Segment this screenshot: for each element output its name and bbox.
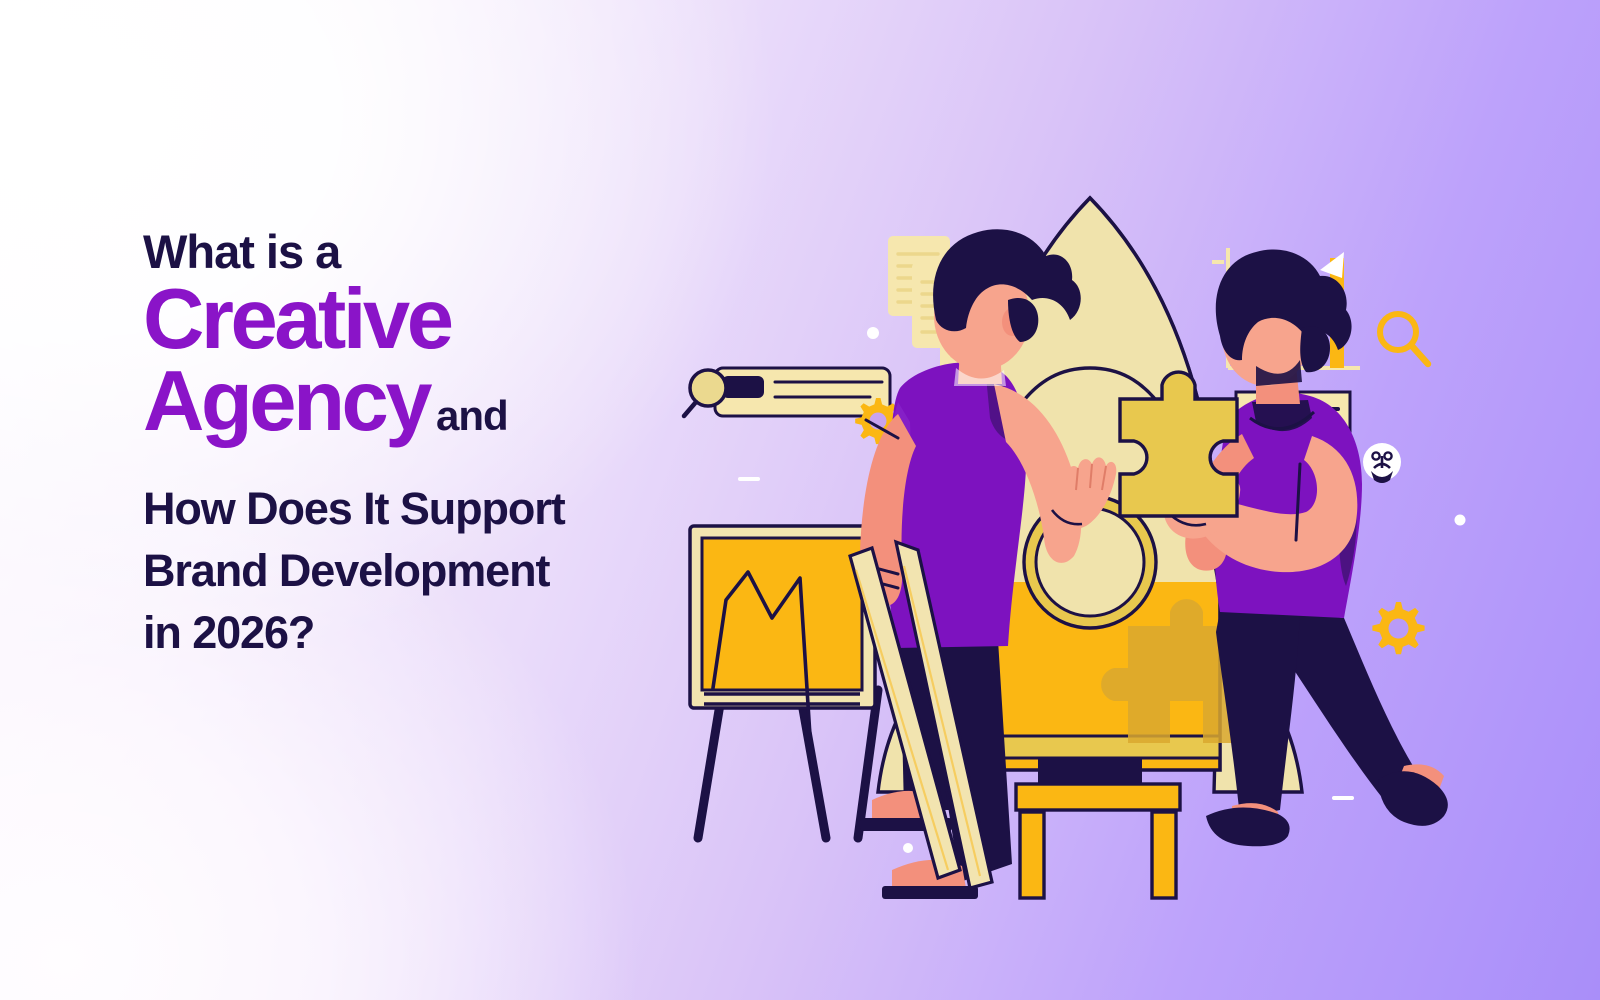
dash-decor-1: [738, 477, 760, 481]
lightbulb-icon: [1363, 443, 1401, 483]
dot-decor-3: [903, 843, 913, 853]
easel-chart: [690, 526, 878, 838]
gear-right-icon: [1372, 602, 1424, 654]
headline-subheading: How Does It Support Brand Development in…: [143, 478, 573, 664]
headline-block: What is a Creative Agencyand How Does It…: [143, 228, 703, 664]
headline-emphasis-creative: Creative: [143, 279, 703, 361]
headline-line-1: What is a: [143, 228, 703, 275]
dot-decor-2: [1455, 515, 1466, 526]
dot-decor-1: [867, 327, 879, 339]
headline-connector-and: and: [436, 392, 508, 440]
magnifier-icon: [1380, 314, 1428, 364]
headline-emphasis-wrap: Creative Agencyand: [143, 279, 703, 442]
banner-root: What is a Creative Agencyand How Does It…: [0, 0, 1600, 1000]
search-bar: [684, 368, 890, 416]
headline-emphasis-agency: Agency: [143, 361, 429, 443]
dash-decor-2: [1332, 796, 1354, 800]
illustration: [660, 170, 1520, 930]
pedestal: [1016, 784, 1180, 898]
